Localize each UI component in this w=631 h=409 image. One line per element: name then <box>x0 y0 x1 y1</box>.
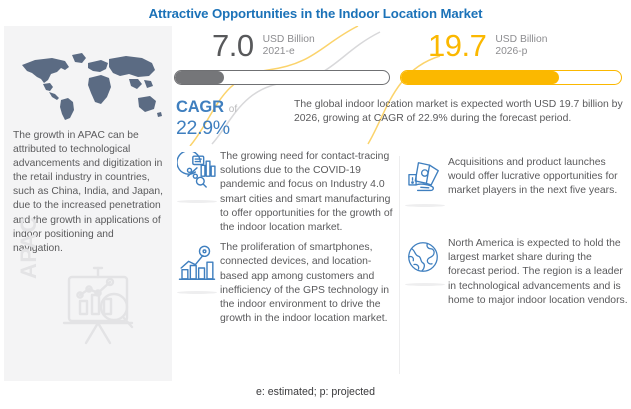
world-map-icon <box>13 48 163 122</box>
stat-2026-progress-bar <box>400 70 622 85</box>
card-icon-shadow <box>405 283 445 286</box>
card-contact-tracing-text: The growing need for contact-tracing sol… <box>220 150 396 235</box>
card-smartphone-icon-wrap <box>174 241 220 294</box>
page-title: Attractive Opportunities in the Indoor L… <box>149 6 483 21</box>
cagr-top: CAGR of <box>176 98 294 117</box>
card-icon-shadow <box>177 200 217 203</box>
cards-column-middle: The growing need for contact-tracing sol… <box>174 150 396 381</box>
globe-icon <box>405 239 441 275</box>
column-divider <box>399 156 400 374</box>
card-smartphone-proliferation: The proliferation of smartphones, connec… <box>174 241 396 326</box>
card-north-america-icon-wrap <box>402 237 448 286</box>
footnote: e: estimated; p: projected <box>0 386 631 398</box>
stat-2026-value: 19.7 <box>428 29 486 62</box>
cagr-value: 22.9% <box>176 117 294 139</box>
card-smartphone-text: The proliferation of smartphones, connec… <box>220 241 396 326</box>
cagr-block: CAGR of 22.9% <box>176 98 294 139</box>
card-contact-tracing-icon-wrap <box>174 150 220 203</box>
card-acquisitions-text: Acquisitions and product launches would … <box>448 156 631 199</box>
stat-2026-unit-line1: USD Billion <box>495 34 547 46</box>
stat-2021-progress-bar <box>174 70 390 85</box>
cards-area: The growing need for contact-tracing sol… <box>172 150 631 381</box>
card-acquisitions-icon-wrap <box>402 156 448 207</box>
stat-2026-unit-line2: 2026-p <box>495 46 547 58</box>
stat-2026-unit: USD Billion 2026-p <box>495 29 547 59</box>
card-icon-shadow <box>177 291 217 294</box>
body-area: The growth in APAC can be attributed to … <box>0 26 631 383</box>
stat-2021-value: 7.0 <box>212 29 254 62</box>
presentation-chart-magnifier-icon <box>56 263 142 353</box>
stats-row: 7.0 USD Billion 2021-e 19.7 USD <box>172 26 631 94</box>
apac-panel: The growth in APAC can be attributed to … <box>4 26 172 381</box>
stat-2021-unit-line1: USD Billion <box>263 34 315 46</box>
bar-chart-location-pin-icon <box>177 243 217 283</box>
stat-2021-head: 7.0 USD Billion 2021-e <box>174 26 396 70</box>
infographic-page: Attractive Opportunities in the Indoor L… <box>0 0 631 409</box>
stat-2021: 7.0 USD Billion 2021-e <box>174 26 396 94</box>
stat-2021-unit: USD Billion 2021-e <box>263 29 315 59</box>
lead-description: The global indoor location market is exp… <box>294 98 624 126</box>
main-content: 7.0 USD Billion 2021-e 19.7 USD <box>172 26 631 381</box>
stat-2026-head: 19.7 USD Billion 2026-p <box>400 26 622 70</box>
cards-column-right: Acquisitions and product launches would … <box>402 150 631 381</box>
card-icon-shadow <box>405 204 445 207</box>
stat-2026: 19.7 USD Billion 2026-p <box>400 26 622 94</box>
stat-2021-unit-line2: 2021-e <box>263 46 315 58</box>
apac-watermark-label: APAC <box>16 216 42 279</box>
cagr-label: CAGR <box>176 98 224 117</box>
card-acquisitions: Acquisitions and product launches would … <box>402 156 631 207</box>
card-north-america: North America is expected to hold the la… <box>402 237 631 308</box>
banknotes-money-icon <box>405 158 443 196</box>
cagr-of-label: of <box>229 104 237 115</box>
card-north-america-text: North America is expected to hold the la… <box>448 237 631 308</box>
title-bar: Attractive Opportunities in the Indoor L… <box>0 0 631 26</box>
card-contact-tracing: The growing need for contact-tracing sol… <box>174 150 396 235</box>
stat-2026-progress-fill <box>401 71 559 84</box>
stat-2021-progress-fill <box>175 71 224 84</box>
apac-watermark-group: APAC <box>14 259 164 367</box>
contact-tracing-document-percent-icon <box>177 152 217 192</box>
